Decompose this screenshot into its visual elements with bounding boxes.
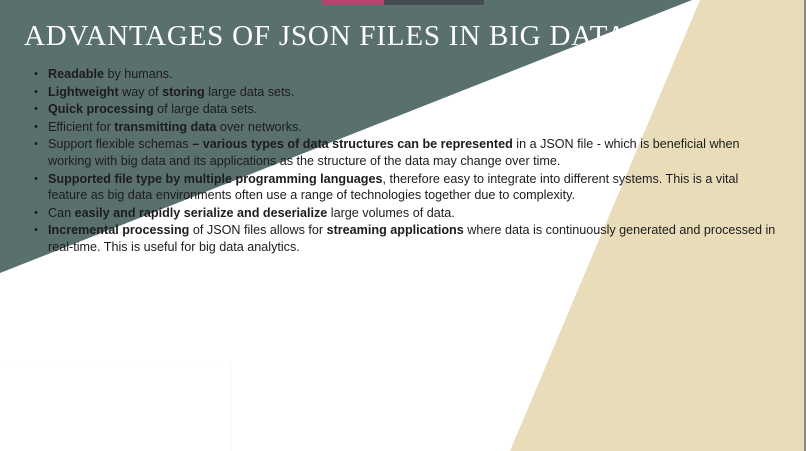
emphasis-text: Lightweight xyxy=(48,85,119,99)
plain-text: large volumes of data. xyxy=(327,206,454,220)
bullet-point-icon: • xyxy=(30,66,48,82)
list-item-text: Lightweight way of storing large data se… xyxy=(48,84,778,101)
emphasis-text: storing xyxy=(162,85,205,99)
emphasis-text: Quick processing xyxy=(48,102,154,116)
page-title: ADVANTAGES OF JSON FILES IN BIG DATA xyxy=(24,20,628,53)
plain-text: Support flexible schemas xyxy=(48,137,192,151)
emphasis-text: – various types of data structures can b… xyxy=(192,137,513,151)
list-item: •Can easily and rapidly serialize and de… xyxy=(30,205,778,222)
list-item: •Support flexible schemas – various type… xyxy=(30,136,778,169)
bullet-list: •Readable by humans.•Lightweight way of … xyxy=(30,66,778,257)
list-item: •Supported file type by multiple program… xyxy=(30,171,778,204)
list-item-text: Quick processing of large data sets. xyxy=(48,101,778,118)
emphasis-text: easily and rapidly serialize and deseria… xyxy=(75,206,328,220)
bullet-point-icon: • xyxy=(30,101,48,117)
emphasis-text: Readable xyxy=(48,67,104,81)
plain-text: way of xyxy=(119,85,162,99)
list-item: •Readable by humans. xyxy=(30,66,778,83)
bullet-point-icon: • xyxy=(30,136,48,152)
list-item-text: Efficient for transmitting data over net… xyxy=(48,119,778,136)
plain-text: of JSON files allows for xyxy=(189,223,326,237)
list-item-text: Supported file type by multiple programm… xyxy=(48,171,778,204)
emphasis-text: streaming applications xyxy=(327,223,464,237)
emphasis-text: transmitting data xyxy=(114,120,216,134)
plain-text: of large data sets. xyxy=(154,102,258,116)
progress-bar-fill xyxy=(322,0,384,5)
presentation-slide: ADVANTAGES OF JSON FILES IN BIG DATA •Re… xyxy=(0,0,806,451)
list-item-text: Incremental processing of JSON files all… xyxy=(48,222,778,255)
list-item-text: Can easily and rapidly serialize and des… xyxy=(48,205,778,222)
emphasis-text: Supported file type by multiple programm… xyxy=(48,172,382,186)
bullet-point-icon: • xyxy=(30,171,48,187)
bullet-point-icon: • xyxy=(30,205,48,221)
faint-horizontal-rule xyxy=(0,363,230,364)
list-item: •Efficient for transmitting data over ne… xyxy=(30,119,778,136)
plain-text: Efficient for xyxy=(48,120,114,134)
bullet-point-icon: • xyxy=(30,222,48,238)
list-item: •Quick processing of large data sets. xyxy=(30,101,778,118)
bullet-point-icon: • xyxy=(30,119,48,135)
faint-vertical-rule xyxy=(230,363,231,451)
list-item: •Incremental processing of JSON files al… xyxy=(30,222,778,255)
emphasis-text: Incremental processing xyxy=(48,223,189,237)
progress-bar-track xyxy=(384,0,484,5)
plain-text: by humans. xyxy=(104,67,173,81)
plain-text: large data sets. xyxy=(205,85,295,99)
bullet-point-icon: • xyxy=(30,84,48,100)
list-item-text: Readable by humans. xyxy=(48,66,778,83)
top-accent-bar xyxy=(322,0,484,5)
list-item-text: Support flexible schemas – various types… xyxy=(48,136,778,169)
plain-text: over networks. xyxy=(216,120,301,134)
plain-text: Can xyxy=(48,206,75,220)
list-item: •Lightweight way of storing large data s… xyxy=(30,84,778,101)
